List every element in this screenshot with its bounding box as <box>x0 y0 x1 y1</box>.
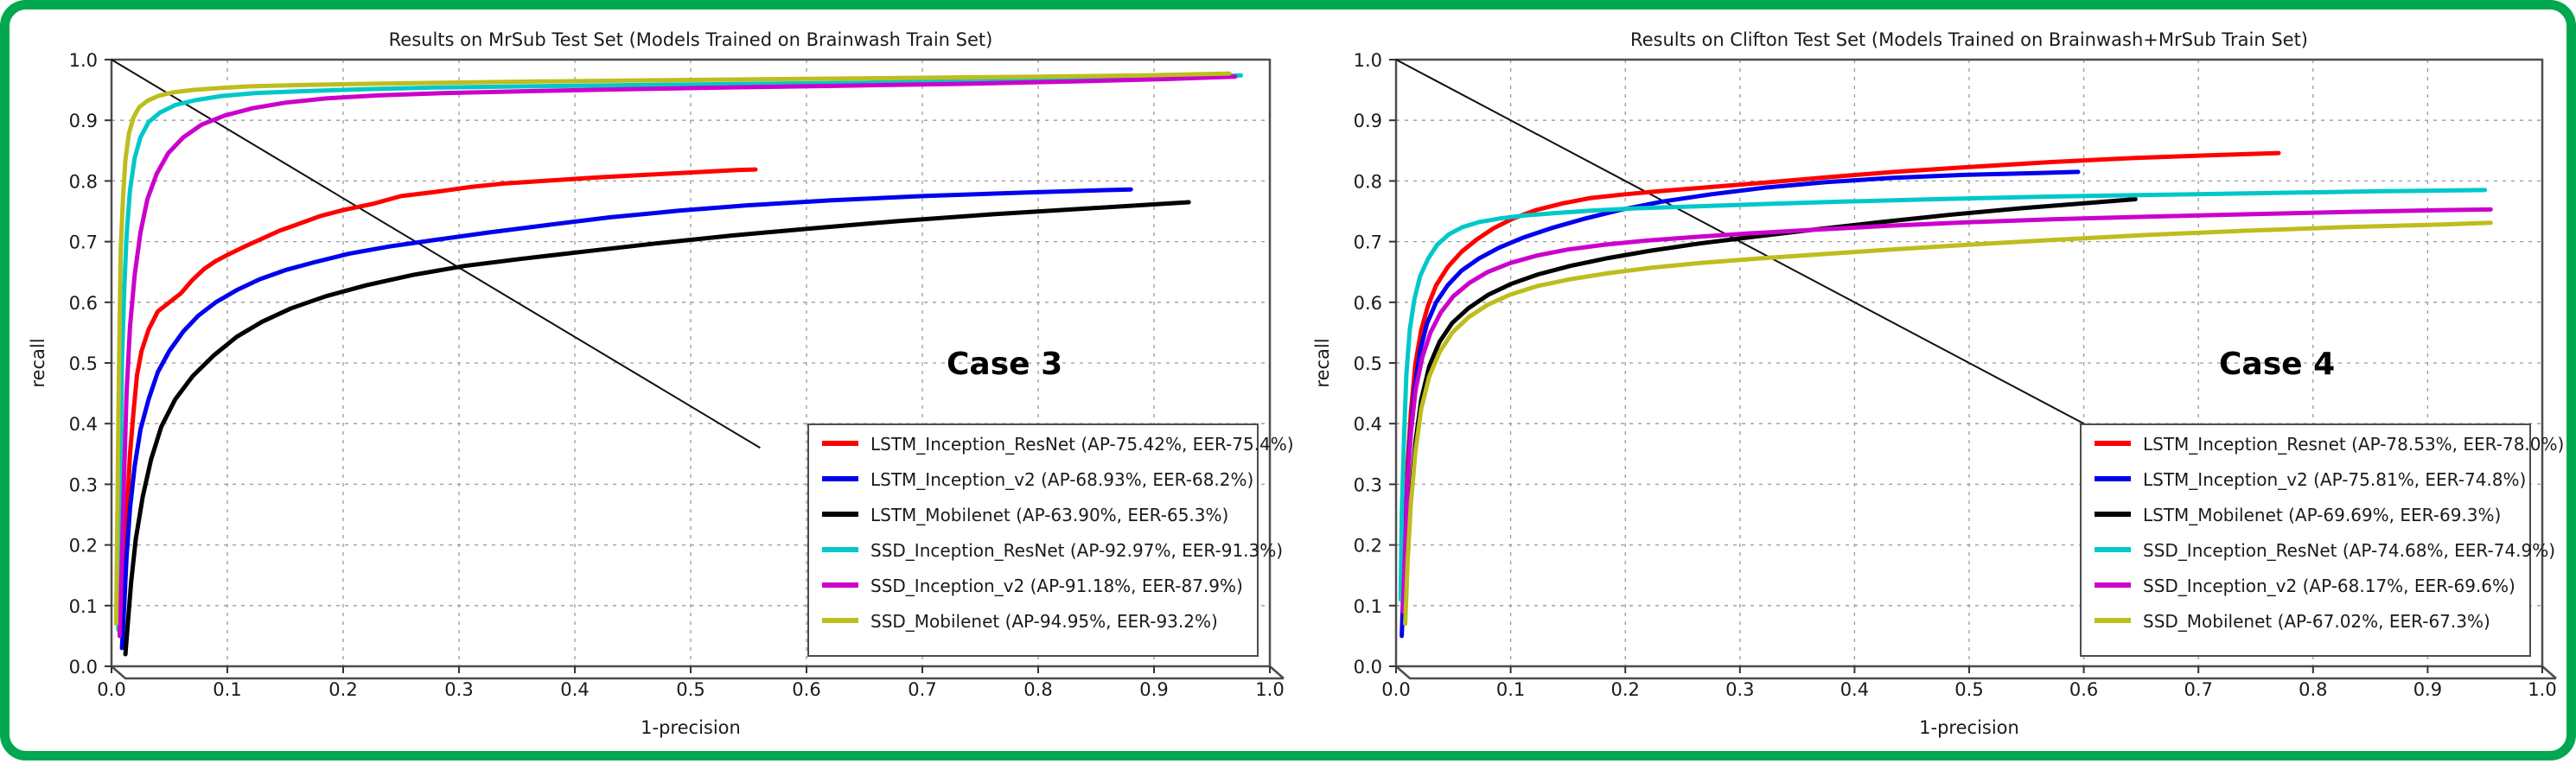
eer-reference-line <box>1396 60 2118 442</box>
legend-label-LSTM_Inception_Resnet: LSTM_Inception_Resnet (AP-78.53%, EER-78… <box>2143 434 2564 455</box>
x-tick-label: 0.5 <box>676 679 705 700</box>
y-tick-label: 0.4 <box>1354 414 1382 435</box>
plot-frame-depth <box>1396 666 2556 678</box>
y-axis-label: recall <box>1312 338 1333 387</box>
y-tick-label: 0.6 <box>69 293 98 314</box>
legend-label-SSD_Inception_ResNet: SSD_Inception_ResNet (AP-74.68%, EER-74.… <box>2143 540 2555 561</box>
legend-label-SSD_Inception_ResNet: SSD_Inception_ResNet (AP-92.97%, EER-91.… <box>870 540 1283 561</box>
x-tick-label: 0.3 <box>1725 679 1754 700</box>
x-tick-label: 0.0 <box>1381 679 1410 700</box>
y-axis-label: recall <box>28 338 48 387</box>
x-tick-label: 0.7 <box>2184 679 2212 700</box>
figure-border: Results on MrSub Test Set (Models Traine… <box>0 0 2576 760</box>
x-tick-label: 0.4 <box>1840 679 1869 700</box>
y-tick-label: 0.5 <box>69 353 98 374</box>
y-tick-label: 0.9 <box>1354 111 1382 131</box>
y-tick-label: 0.4 <box>69 414 98 435</box>
x-tick-label: 0.1 <box>213 679 241 700</box>
case-annotation: Case 3 <box>947 347 1062 382</box>
x-tick-label: 0.8 <box>2299 679 2327 700</box>
y-tick-label: 0.7 <box>1354 232 1382 253</box>
y-tick-label: 0.5 <box>1354 353 1382 374</box>
plot-frame-depth <box>112 666 1284 678</box>
x-tick-label: 0.1 <box>1496 679 1525 700</box>
y-tick-label: 0.6 <box>1354 293 1382 314</box>
y-tick-label: 0.0 <box>1354 657 1382 678</box>
legend-label-LSTM_Inception_v2: LSTM_Inception_v2 (AP-68.93%, EER-68.2%) <box>870 469 1253 490</box>
legend: LSTM_Inception_Resnet (AP-78.53%, EER-78… <box>2081 424 2564 656</box>
legend: LSTM_Inception_ResNet (AP-75.42%, EER-75… <box>808 424 1294 656</box>
x-tick-label: 0.2 <box>1610 679 1639 700</box>
x-tick-label: 0.8 <box>1023 679 1052 700</box>
legend-label-SSD_Inception_v2: SSD_Inception_v2 (AP-91.18%, EER-87.9%) <box>870 576 1243 596</box>
x-tick-label: 0.6 <box>792 679 820 700</box>
x-tick-label: 0.7 <box>908 679 936 700</box>
chart-title: Results on MrSub Test Set (Models Traine… <box>389 29 993 50</box>
y-tick-label: 1.0 <box>69 50 98 71</box>
y-tick-label: 0.9 <box>69 111 98 131</box>
legend-label-LSTM_Inception_v2: LSTM_Inception_v2 (AP-75.81%, EER-74.8%) <box>2143 469 2526 490</box>
legend-label-SSD_Mobilenet: SSD_Mobilenet (AP-94.95%, EER-93.2%) <box>870 611 1218 632</box>
y-tick-label: 0.7 <box>69 232 98 253</box>
y-tick-label: 0.8 <box>1354 171 1382 192</box>
y-tick-label: 0.2 <box>1354 536 1382 557</box>
legend-label-LSTM_Mobilenet: LSTM_Mobilenet (AP-69.69%, EER-69.3%) <box>2143 505 2501 525</box>
x-tick-label: 0.9 <box>2413 679 2442 700</box>
plot-left: Results on MrSub Test Set (Models Traine… <box>22 10 1301 770</box>
chart-title: Results on Clifton Test Set (Models Trai… <box>1630 29 2308 50</box>
x-tick-label: 1.0 <box>2528 679 2556 700</box>
y-tick-label: 1.0 <box>1354 50 1382 71</box>
chart-panel-case-3: Results on MrSub Test Set (Models Traine… <box>22 10 1301 770</box>
chart-panel-case-4: Results on Clifton Test Set (Models Trai… <box>1306 10 2573 770</box>
y-tick-label: 0.1 <box>69 596 98 617</box>
legend-label-SSD_Inception_v2: SSD_Inception_v2 (AP-68.17%, EER-69.6%) <box>2143 576 2515 596</box>
x-tick-label: 0.0 <box>97 679 125 700</box>
x-tick-label: 0.5 <box>1954 679 1983 700</box>
plot-right: Results on Clifton Test Set (Models Trai… <box>1306 10 2573 770</box>
x-tick-label: 0.6 <box>2069 679 2098 700</box>
eer-reference-line <box>112 60 760 448</box>
x-axis-label: 1-precision <box>641 717 741 738</box>
x-tick-label: 1.0 <box>1255 679 1284 700</box>
y-tick-label: 0.8 <box>69 171 98 192</box>
legend-label-SSD_Mobilenet: SSD_Mobilenet (AP-67.02%, EER-67.3%) <box>2143 611 2490 632</box>
y-tick-label: 0.2 <box>69 536 98 557</box>
y-tick-label: 0.1 <box>1354 596 1382 617</box>
x-tick-label: 0.4 <box>560 679 589 700</box>
y-tick-label: 0.3 <box>69 474 98 495</box>
legend-label-LSTM_Mobilenet: LSTM_Mobilenet (AP-63.90%, EER-65.3%) <box>870 505 1228 525</box>
x-tick-label: 0.2 <box>328 679 357 700</box>
case-annotation: Case 4 <box>2219 347 2335 382</box>
x-tick-label: 0.9 <box>1139 679 1168 700</box>
y-tick-label: 0.3 <box>1354 474 1382 495</box>
x-tick-label: 0.3 <box>444 679 473 700</box>
x-axis-label: 1-precision <box>1919 717 2019 738</box>
legend-label-LSTM_Inception_ResNet: LSTM_Inception_ResNet (AP-75.42%, EER-75… <box>870 434 1294 455</box>
y-tick-label: 0.0 <box>69 657 98 678</box>
